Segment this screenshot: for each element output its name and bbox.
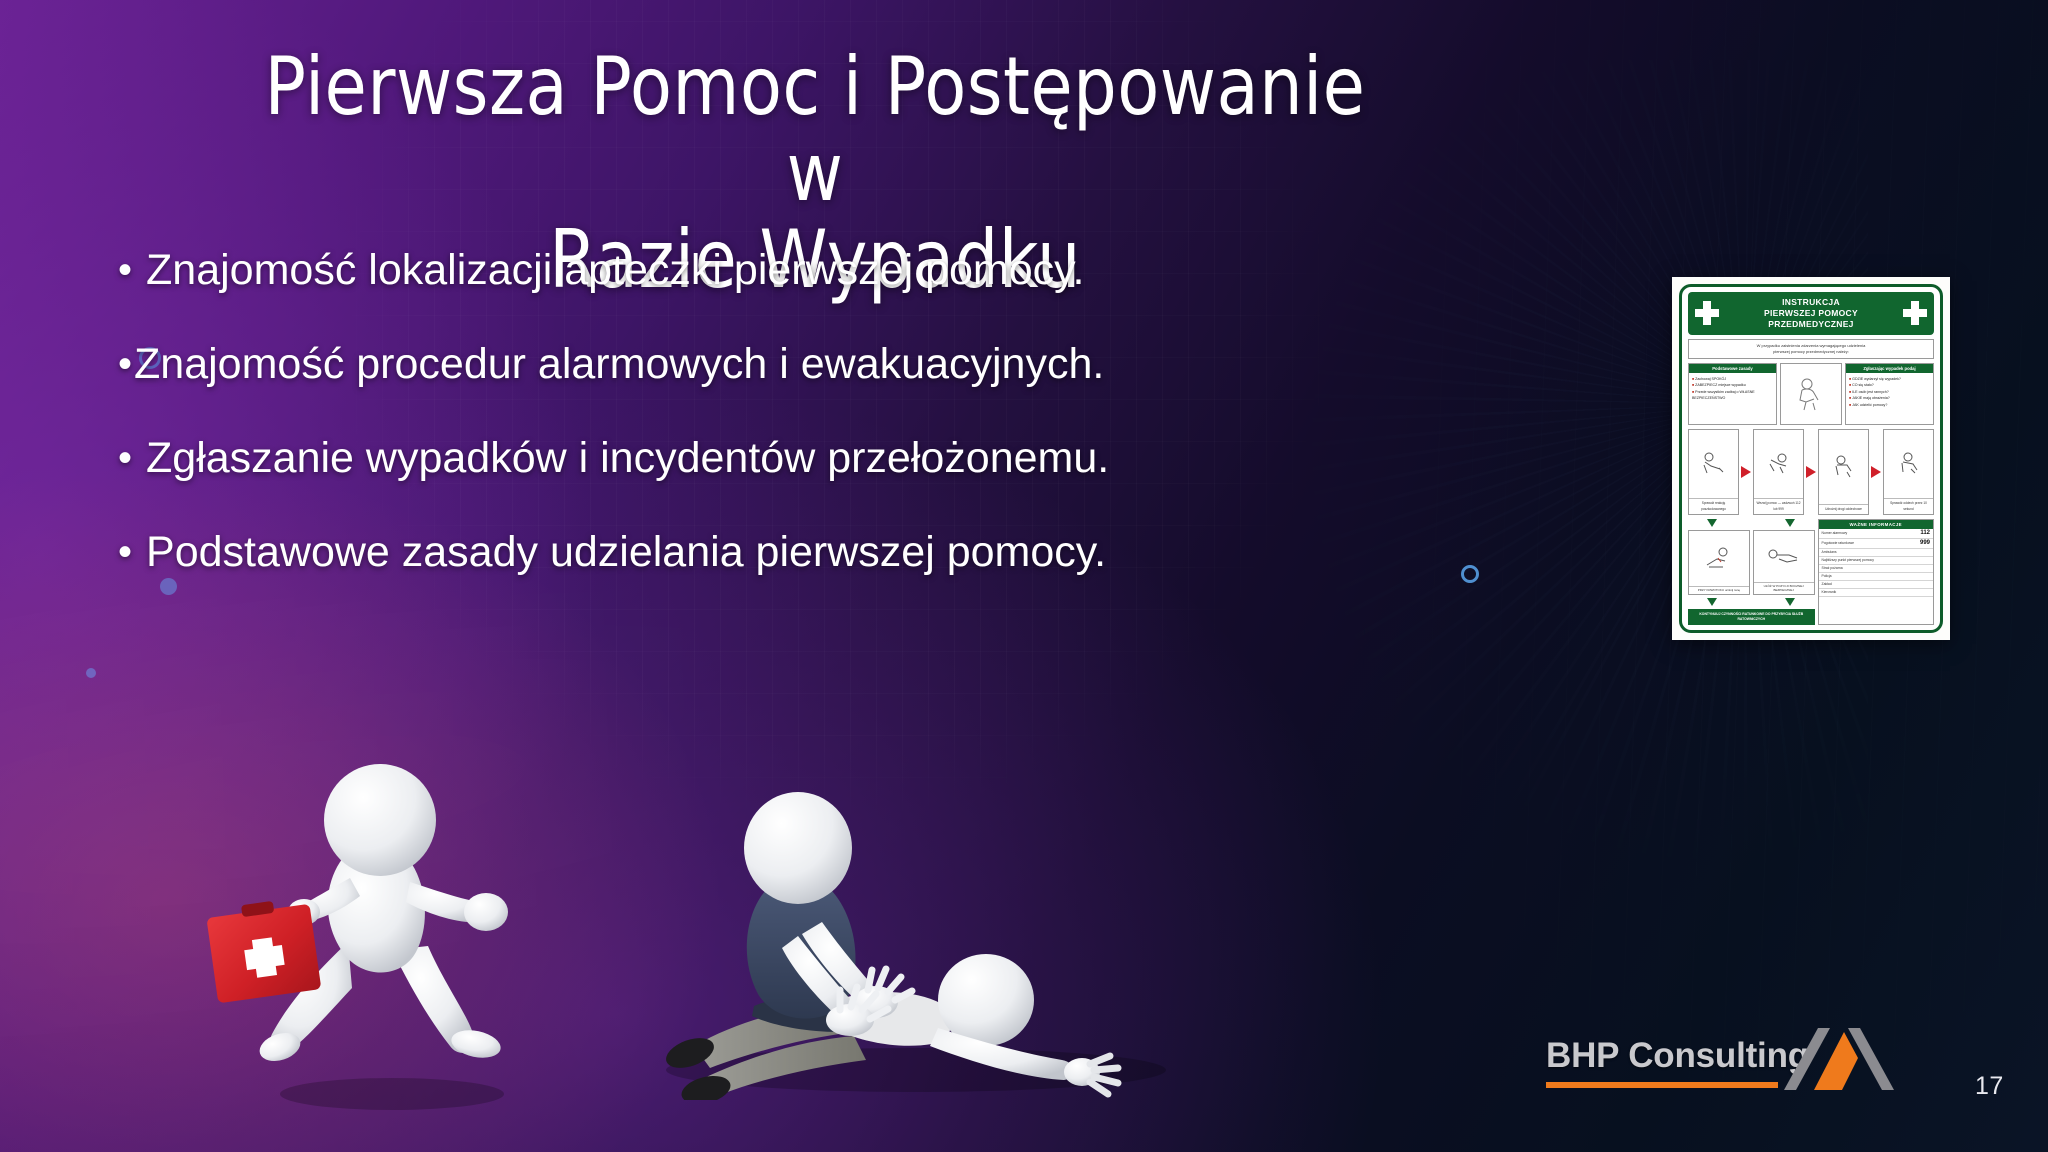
poster-recovery-position-panel: UŁÓŻ W POZYCJI BOCZNEJ BEZPIECZNEJ <box>1753 530 1815 595</box>
down-arrow-icon <box>1707 598 1717 606</box>
poster-step: Sprawdź reakcję poszkodowanego <box>1688 429 1739 515</box>
poster-basic-rules: Podstawowe zasady ■ Zachowaj SPOKÓJ ■ ZA… <box>1688 363 1777 425</box>
poster-report-info: Zgłaszając wypadek podaj ■ GDZIE wydarzy… <box>1845 363 1934 425</box>
decor-triangle <box>284 952 314 978</box>
step-arrow-icon <box>1741 466 1751 478</box>
emergency-row: Policja <box>1819 573 1933 581</box>
bullet-glyph: • <box>118 434 132 482</box>
bullet-glyph: • <box>118 528 132 576</box>
down-arrow-icon <box>1707 519 1717 527</box>
poster-bleeding-panel: PRZY KRWOTOKU uciśnij ranę <box>1688 530 1750 595</box>
poster-columns: Podstawowe zasady ■ Zachowaj SPOKÓJ ■ ZA… <box>1688 363 1934 425</box>
list-item: • Znajomość lokalizacji apteczki pierwsz… <box>118 246 1278 296</box>
decor-ring-right <box>1461 565 1479 583</box>
emergency-row: Pogotowie ratunkowe999 <box>1819 539 1933 549</box>
cpr-rescue-scene-illustration <box>586 760 1206 1100</box>
bullet-glyph: • <box>118 246 132 294</box>
emergency-row: Kierownik <box>1819 589 1933 597</box>
emergency-row: Najbliższy punkt pierwszej pomocy <box>1819 557 1933 565</box>
poster-step: Udrożnij drogi oddechowe <box>1818 429 1869 515</box>
emergency-row: Zakład <box>1819 581 1933 589</box>
poster-step: Sprawdź oddech przez 10 sekund <box>1883 429 1934 515</box>
poster-step: Wezwij pomoc — zadzwoń 112 lub 999 <box>1753 429 1804 515</box>
emergency-row: Ambulans <box>1819 549 1933 557</box>
poster-emergency-info: WAŻNE INFORMACJE Numer alarmowy112 Pogot… <box>1818 519 1934 625</box>
list-item-text: Podstawowe zasady udzielania pierwszej p… <box>146 528 1278 578</box>
logo-underline <box>1546 1082 1778 1088</box>
first-aid-instruction-poster: INSTRUKCJA PIERWSZEJ POMOCY PRZEDMEDYCZN… <box>1672 277 1950 640</box>
decor-dot-small <box>86 668 96 678</box>
poster-intro: W przypadku zaistnienia zdarzenia wymaga… <box>1688 339 1934 359</box>
emergency-row: Straż pożarna <box>1819 565 1933 573</box>
page-number: 17 <box>1975 1072 2004 1101</box>
list-item-text: Zgłaszanie wypadków i incydentów przełoż… <box>146 434 1278 484</box>
poster-center-illustration <box>1780 363 1842 425</box>
down-arrow-icon <box>1785 519 1795 527</box>
bhp-consulting-logo: BHP Consulting <box>1546 1036 1896 1102</box>
step-arrow-icon <box>1806 466 1816 478</box>
list-item-text: Znajomość lokalizacji apteczki pierwszej… <box>146 246 1278 296</box>
poster-report-items: ■ GDZIE wydarzył się wypadek? ■ CO się s… <box>1846 373 1933 424</box>
logo-text: BHP Consulting <box>1546 1036 1809 1076</box>
slide: Pierwsza Pomoc i Postępowanie w Razie Wy… <box>0 0 2048 1152</box>
list-item: • Zgłaszanie wypadków i incydentów przeł… <box>118 434 1278 484</box>
list-item: • Podstawowe zasady udzielania pierwszej… <box>118 528 1278 578</box>
logo-chevron-icon <box>1784 1028 1894 1090</box>
poster-header: INSTRUKCJA PIERWSZEJ POMOCY PRZEDMEDYCZN… <box>1688 292 1934 335</box>
list-item-text: Znajomość procedur alarmowych i ewakuacy… <box>134 340 1278 390</box>
poster-basic-rules-items: ■ Zachowaj SPOKÓJ ■ ZABEZPIECZ miejsce w… <box>1689 373 1776 424</box>
list-item: • Znajomość procedur alarmowych i ewakua… <box>118 340 1278 390</box>
bullet-list: • Znajomość lokalizacji apteczki pierwsz… <box>118 246 1278 622</box>
poster-title: INSTRUKCJA PIERWSZEJ POMOCY PRZEDMEDYCZN… <box>1725 297 1897 330</box>
step-arrow-icon <box>1871 466 1881 478</box>
emergency-row: Numer alarmowy112 <box>1819 529 1933 539</box>
bullet-glyph: • <box>118 340 132 388</box>
running-figure-with-first-aid-kit-illustration <box>196 742 576 1122</box>
poster-step-flow: Sprawdź reakcję poszkodowanego Wezwij po… <box>1688 429 1934 515</box>
poster-footer-bar: KONTYNUUJ CZYNNOŚCI RATUNKOWE DO PRZYBYC… <box>1688 609 1815 625</box>
poster-bottom: PRZY KRWOTOKU uciśnij ranę UŁÓŻ W POZYCJ… <box>1688 519 1934 625</box>
down-arrow-icon <box>1785 598 1795 606</box>
medical-cross-icon <box>1902 300 1928 326</box>
medical-cross-icon <box>1694 300 1720 326</box>
